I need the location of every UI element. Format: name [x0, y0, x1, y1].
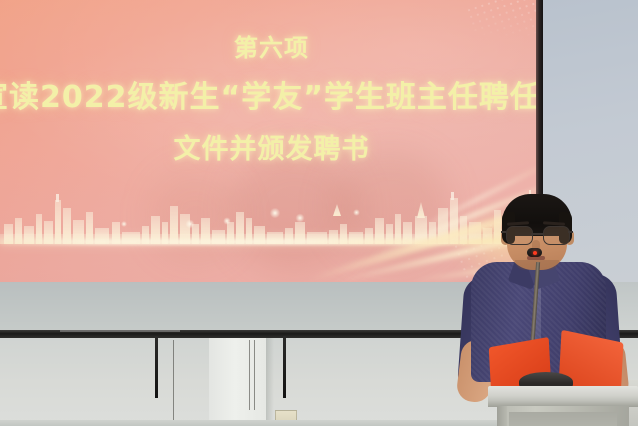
glasses-temple-left	[501, 231, 506, 233]
glasses-bridge	[531, 233, 543, 235]
photo-scene: 第六项 宣读2022级新生“学友”学生班主任聘任 文件并颁发聘书	[0, 0, 638, 426]
rail-hanger-bracket	[283, 336, 286, 398]
slide-heading-line3: 文件并颁发聘书	[0, 127, 543, 166]
right-lens	[543, 226, 570, 245]
rail-hanger-bracket	[155, 336, 158, 398]
hanging-cable	[173, 340, 174, 426]
podium-left-post	[497, 406, 507, 426]
wall-pillar	[209, 338, 266, 426]
speaker-person	[455, 190, 638, 426]
hanging-cable	[249, 340, 250, 410]
slide-heading-line2: 宣读2022级新生“学友”学生班主任聘任	[0, 72, 521, 116]
microphone-led-indicator	[533, 251, 537, 255]
slide-heading-line1: 第六项	[0, 28, 543, 63]
left-lens	[506, 226, 533, 245]
podium-inner-panel	[509, 412, 617, 426]
hanging-cable	[254, 340, 255, 410]
rail-highlight	[60, 330, 180, 332]
pillar-shadow	[266, 338, 274, 426]
glasses-temple-right	[568, 231, 573, 233]
